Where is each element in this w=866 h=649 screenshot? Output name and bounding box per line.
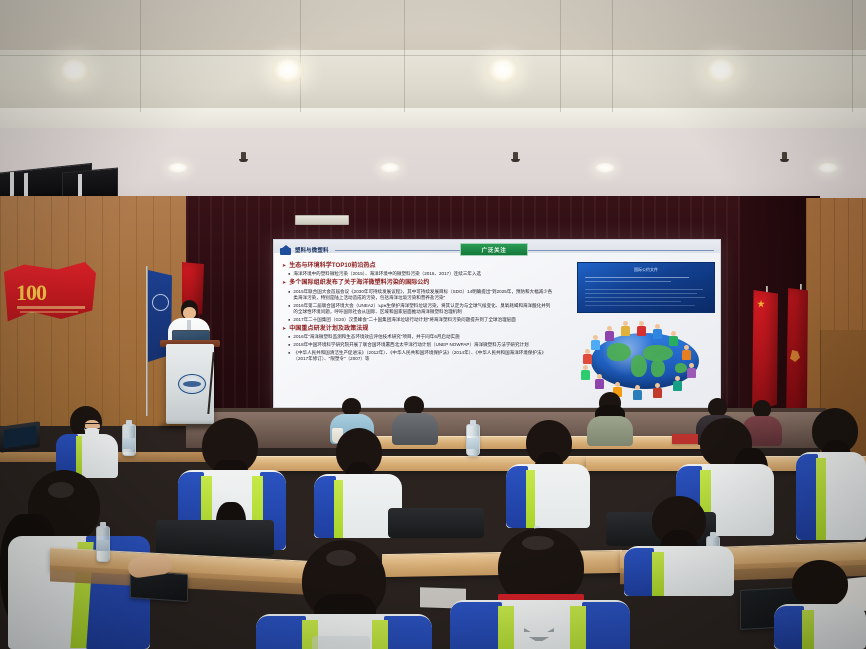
slide-document-image: 国际公约文件 xyxy=(577,262,715,313)
slide-heading: ➤ 多个国际组织发布了关于海洋微塑料污染的国际公约 xyxy=(282,280,554,288)
ceiling-seam xyxy=(612,0,613,112)
globe-landmass xyxy=(675,363,687,373)
bullet-marker: ➤ xyxy=(282,326,286,333)
ceiling-downlight-small xyxy=(595,163,615,173)
slide-document-title: 国际公约文件 xyxy=(634,267,658,273)
slide-bullet-text: 2017年二十国集团（G20）汉堡峰会"二十国集团海洋垃圾行动计划"将海洋塑料污… xyxy=(293,317,515,323)
uniform-blue-panel xyxy=(384,616,432,649)
ceiling-downlight-small xyxy=(818,163,838,173)
globe-person-figure xyxy=(687,363,696,378)
ceiling-air-vent xyxy=(295,215,349,225)
ceiling-seam xyxy=(140,0,141,112)
ceiling-seam xyxy=(300,0,301,112)
ceiling-seam xyxy=(852,0,853,112)
uniform-green-stripe xyxy=(652,552,664,596)
sprinkler-head xyxy=(241,152,246,161)
attendee-jacket xyxy=(587,416,633,446)
uniform-blue-panel xyxy=(256,616,306,649)
globe-landmass xyxy=(607,343,631,361)
ceiling-downlight xyxy=(705,58,737,84)
uniform-green-stripe xyxy=(816,458,826,540)
bullet-marker: ➤ xyxy=(282,280,286,287)
bullet-marker: ● xyxy=(288,303,290,309)
globe-person-figure xyxy=(653,383,662,398)
ceiling-downlight xyxy=(487,58,519,84)
bullet-marker: ● xyxy=(288,350,290,356)
student xyxy=(774,560,866,649)
globe-person-figure xyxy=(583,349,592,364)
water-bottle xyxy=(466,424,480,456)
speaker-bracket xyxy=(10,172,14,196)
uniform-blue-panel xyxy=(506,466,528,528)
speaker-bracket xyxy=(78,174,82,196)
globe-person-figure xyxy=(605,326,614,341)
uniform-green-stripe xyxy=(526,470,535,528)
slide-heading-text: 生态与环境科学TOP10前沿热点 xyxy=(289,263,376,271)
slide-bullet: ● 海洋环境中的塑料微粒污染（2015）、海洋环境中的微塑料污染（2016、20… xyxy=(282,271,554,277)
uniform-green-stripe xyxy=(802,610,814,649)
ceiling-mid-panel xyxy=(0,50,866,112)
ceiling-near-panel xyxy=(0,128,866,203)
bullet-marker: ● xyxy=(288,334,290,340)
uniform-green-stripe xyxy=(498,606,514,649)
slide-bullet: ● 2015年联合国大会首届会议《2030年可持续发展议程》，其中可持续发展目标… xyxy=(282,289,554,302)
uniform-green-stripe xyxy=(570,606,586,649)
uniform-blue-panel xyxy=(774,606,804,649)
water-bottle xyxy=(96,526,110,562)
lecture-hall-photo: 100 塑料与微塑料 广泛关注 ➤ 生态与环境科学TOP10前沿热点 xyxy=(0,0,866,649)
slide-heading: ➤ 中国重点研发计划及政策法规 xyxy=(282,326,554,334)
presentation-slide: 塑料与微塑料 广泛关注 ➤ 生态与环境科学TOP10前沿热点 ● 海洋环境中的塑… xyxy=(274,240,720,407)
uniform-blue-panel xyxy=(582,602,630,649)
slide-bullet-text: 2015年联合国大会首届会议《2030年可持续发展议程》，其中可持续发展目标（S… xyxy=(293,289,554,302)
hair-highlight xyxy=(522,536,554,550)
globe-person-figure xyxy=(669,331,678,346)
emblem-caption-line xyxy=(17,306,85,309)
globe-person-figure xyxy=(595,374,604,389)
globe-landmass xyxy=(651,359,665,377)
globe-sphere xyxy=(591,333,699,389)
slide-bullet-text: 2016年"海洋微塑料监测和生态环境效应评估技术研究"项目，并于同年6月启动实施 xyxy=(293,334,459,340)
slide-media-column: 国际公约文件 xyxy=(577,262,713,399)
student xyxy=(256,540,432,649)
student xyxy=(450,528,630,649)
globe-person-figure xyxy=(682,345,691,360)
projection-screen: 塑料与微塑料 广泛关注 ➤ 生态与环境科学TOP10前沿热点 ● 海洋环境中的塑… xyxy=(273,239,721,408)
globe-person-figure xyxy=(591,335,600,350)
water-bottle xyxy=(122,424,136,456)
slide-bullet: ● 2016年第二届联合国环境大会（UNEA2）ърж生保护海洋塑料垃圾污染，将… xyxy=(282,303,554,316)
globe-person-figure xyxy=(653,324,662,339)
sprinkler-head xyxy=(782,152,787,161)
ceiling-downlight xyxy=(272,58,304,84)
hair-highlight xyxy=(326,550,356,566)
hair-highlight xyxy=(48,482,74,498)
student xyxy=(56,406,118,476)
student-head xyxy=(792,560,848,608)
globe-person-figure xyxy=(581,365,590,380)
bullet-marker: ● xyxy=(288,289,290,295)
slide-bullet: ● 2016年"海洋微塑料监测和生态环境效应评估技术研究"项目，并于同年6月启动… xyxy=(282,334,554,340)
flagpole-left xyxy=(146,266,148,416)
slide-bullet-text: 海洋环境中的塑料微粒污染（2015）、海洋环境中的微塑料污染（2016、2017… xyxy=(293,271,481,277)
ceiling-seam xyxy=(0,55,866,56)
bullet-marker: ● xyxy=(288,342,290,348)
bullet-marker: ● xyxy=(288,317,290,323)
ceiling-seam xyxy=(560,0,561,112)
globe-graphic xyxy=(577,321,713,399)
speaker-bracket xyxy=(24,173,28,197)
bullet-marker: ➤ xyxy=(282,263,286,270)
bullet-marker: ● xyxy=(288,271,290,277)
national-flag xyxy=(752,290,778,412)
uniform-blue-panel xyxy=(450,602,502,649)
home-icon xyxy=(280,245,291,255)
student xyxy=(624,496,734,596)
uniform-collar xyxy=(312,636,370,649)
ceiling-downlight xyxy=(58,58,90,84)
adult-attendee xyxy=(586,392,634,444)
ceiling-downlight-small xyxy=(168,163,188,173)
globe-person-figure xyxy=(621,321,630,336)
ceiling-downlight-small xyxy=(380,163,400,173)
student xyxy=(796,408,866,540)
slide-bullet: ● 2018年中国环境科学研究院开展了联合国环境署西北太平洋行动计划（UNEP … xyxy=(282,342,554,348)
emblem-number: 100 xyxy=(16,280,46,306)
sprinkler-head xyxy=(513,152,518,161)
globe-person-figure xyxy=(673,376,682,391)
podium-emblem xyxy=(178,374,206,394)
student xyxy=(506,420,590,528)
globe-person-figure xyxy=(633,385,642,400)
emblem-caption-line-2 xyxy=(20,311,78,313)
slide-body: ➤ 生态与环境科学TOP10前沿热点 ● 海洋环境中的塑料微粒污染（2015）、… xyxy=(282,260,554,362)
uniform-blue-panel xyxy=(314,476,336,538)
slide-heading-text: 多个国际组织发布了关于海洋微塑料污染的国际公约 xyxy=(289,280,429,288)
ceiling-seam xyxy=(404,0,405,112)
cpc-centenary-emblem: 100 xyxy=(4,258,96,336)
slide-heading-text: 中国重点研发计划及政策法规 xyxy=(289,326,368,334)
uniform-blue-panel xyxy=(796,454,818,540)
status-badge: 广泛关注 xyxy=(460,243,528,256)
slide-bullet-text: 2018年中国环境科学研究院开展了联合国环境署西北太平洋行动计划（UNEP NO… xyxy=(293,342,528,348)
slide-bullet: ● 2017年二十国集团（G20）汉堡峰会"二十国集团海洋垃圾行动计划"将海洋塑… xyxy=(282,317,554,323)
uniform-green-stripe xyxy=(372,620,388,649)
slide-bullet-text: 2016年第二届联合国环境大会（UNEA2）ърж生保护海洋塑料垃圾污染，将其认… xyxy=(293,303,554,316)
slide-heading: ➤ 生态与环境科学TOP10前沿热点 xyxy=(282,263,554,271)
slide-bullet-text: 《中华人民共和国清洁生产促进法》（2012年）、《中华人民共和国环境保护法》（2… xyxy=(293,350,554,363)
slide-bullet: ● 《中华人民共和国清洁生产促进法》（2012年）、《中华人民共和国环境保护法》… xyxy=(282,350,554,363)
globe-person-figure xyxy=(637,321,646,336)
uniform-green-stripe xyxy=(334,480,343,538)
uniform-blue-panel xyxy=(624,548,654,596)
slide-title: 塑料与微塑料 xyxy=(295,246,329,254)
